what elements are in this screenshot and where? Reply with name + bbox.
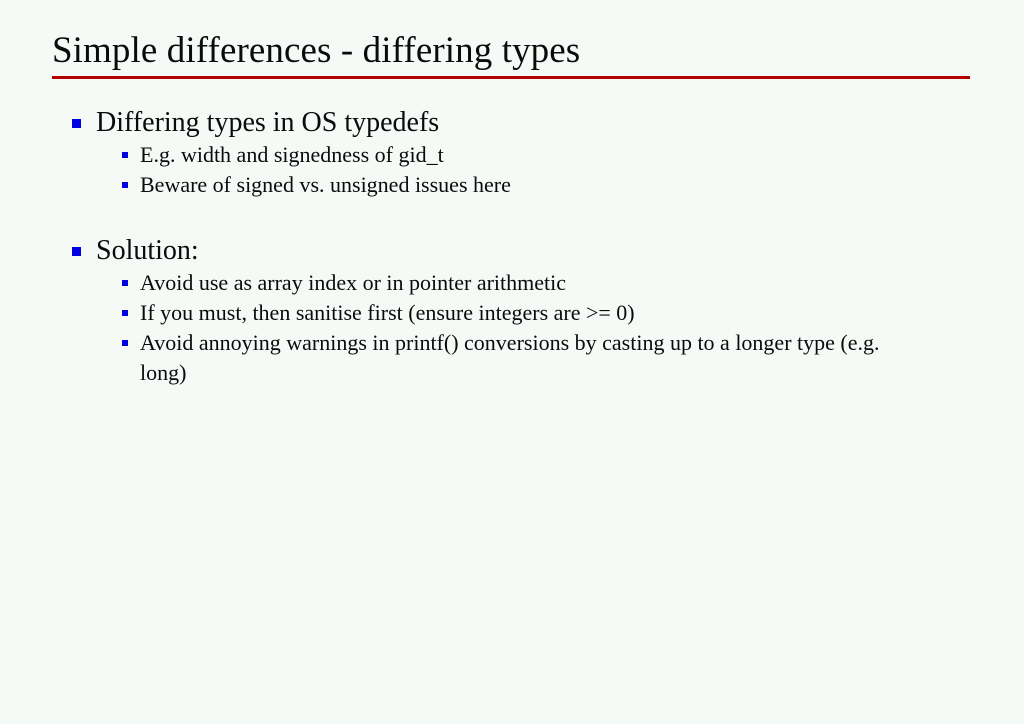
bullet-level2-label: If you must, then sanitise first (ensure… (140, 298, 900, 328)
bullet-square-icon (122, 310, 128, 316)
page-title: Simple differences - differing types (52, 28, 970, 73)
bullet-square-icon (122, 340, 128, 346)
bullet-square-icon (122, 182, 128, 188)
bullet-level2-label: Avoid use as array index or in pointer a… (140, 268, 900, 298)
bullet-square-icon (122, 152, 128, 158)
bullet-level2-label: Beware of signed vs. unsigned issues her… (140, 170, 900, 200)
bullet-square-icon (72, 247, 81, 256)
slide-body: Differing types in OS typedefs E.g. widt… (0, 106, 1024, 388)
bullet-level2: Avoid annoying warnings in printf() conv… (0, 328, 1024, 388)
bullet-level2: Avoid use as array index or in pointer a… (0, 268, 1024, 298)
bullet-level2-label: E.g. width and signedness of gid_t (140, 140, 900, 170)
bullet-square-icon (122, 280, 128, 286)
section-spacer (0, 200, 1024, 234)
bullet-square-icon (72, 119, 81, 128)
bullet-level1: Solution: (0, 234, 1024, 268)
slide-title-block: Simple differences - differing types (52, 28, 970, 79)
bullet-level1-label: Differing types in OS typedefs (96, 107, 439, 138)
bullet-level1: Differing types in OS typedefs (0, 106, 1024, 140)
bullet-level2-label: Avoid annoying warnings in printf() conv… (140, 328, 900, 388)
bullet-level1-label: Solution: (96, 235, 199, 266)
slide-canvas: Simple differences - differing types Dif… (0, 0, 1024, 724)
title-underline-rule (52, 76, 970, 79)
bullet-level2: If you must, then sanitise first (ensure… (0, 298, 1024, 328)
bullet-level2: Beware of signed vs. unsigned issues her… (0, 170, 1024, 200)
bullet-level2: E.g. width and signedness of gid_t (0, 140, 1024, 170)
